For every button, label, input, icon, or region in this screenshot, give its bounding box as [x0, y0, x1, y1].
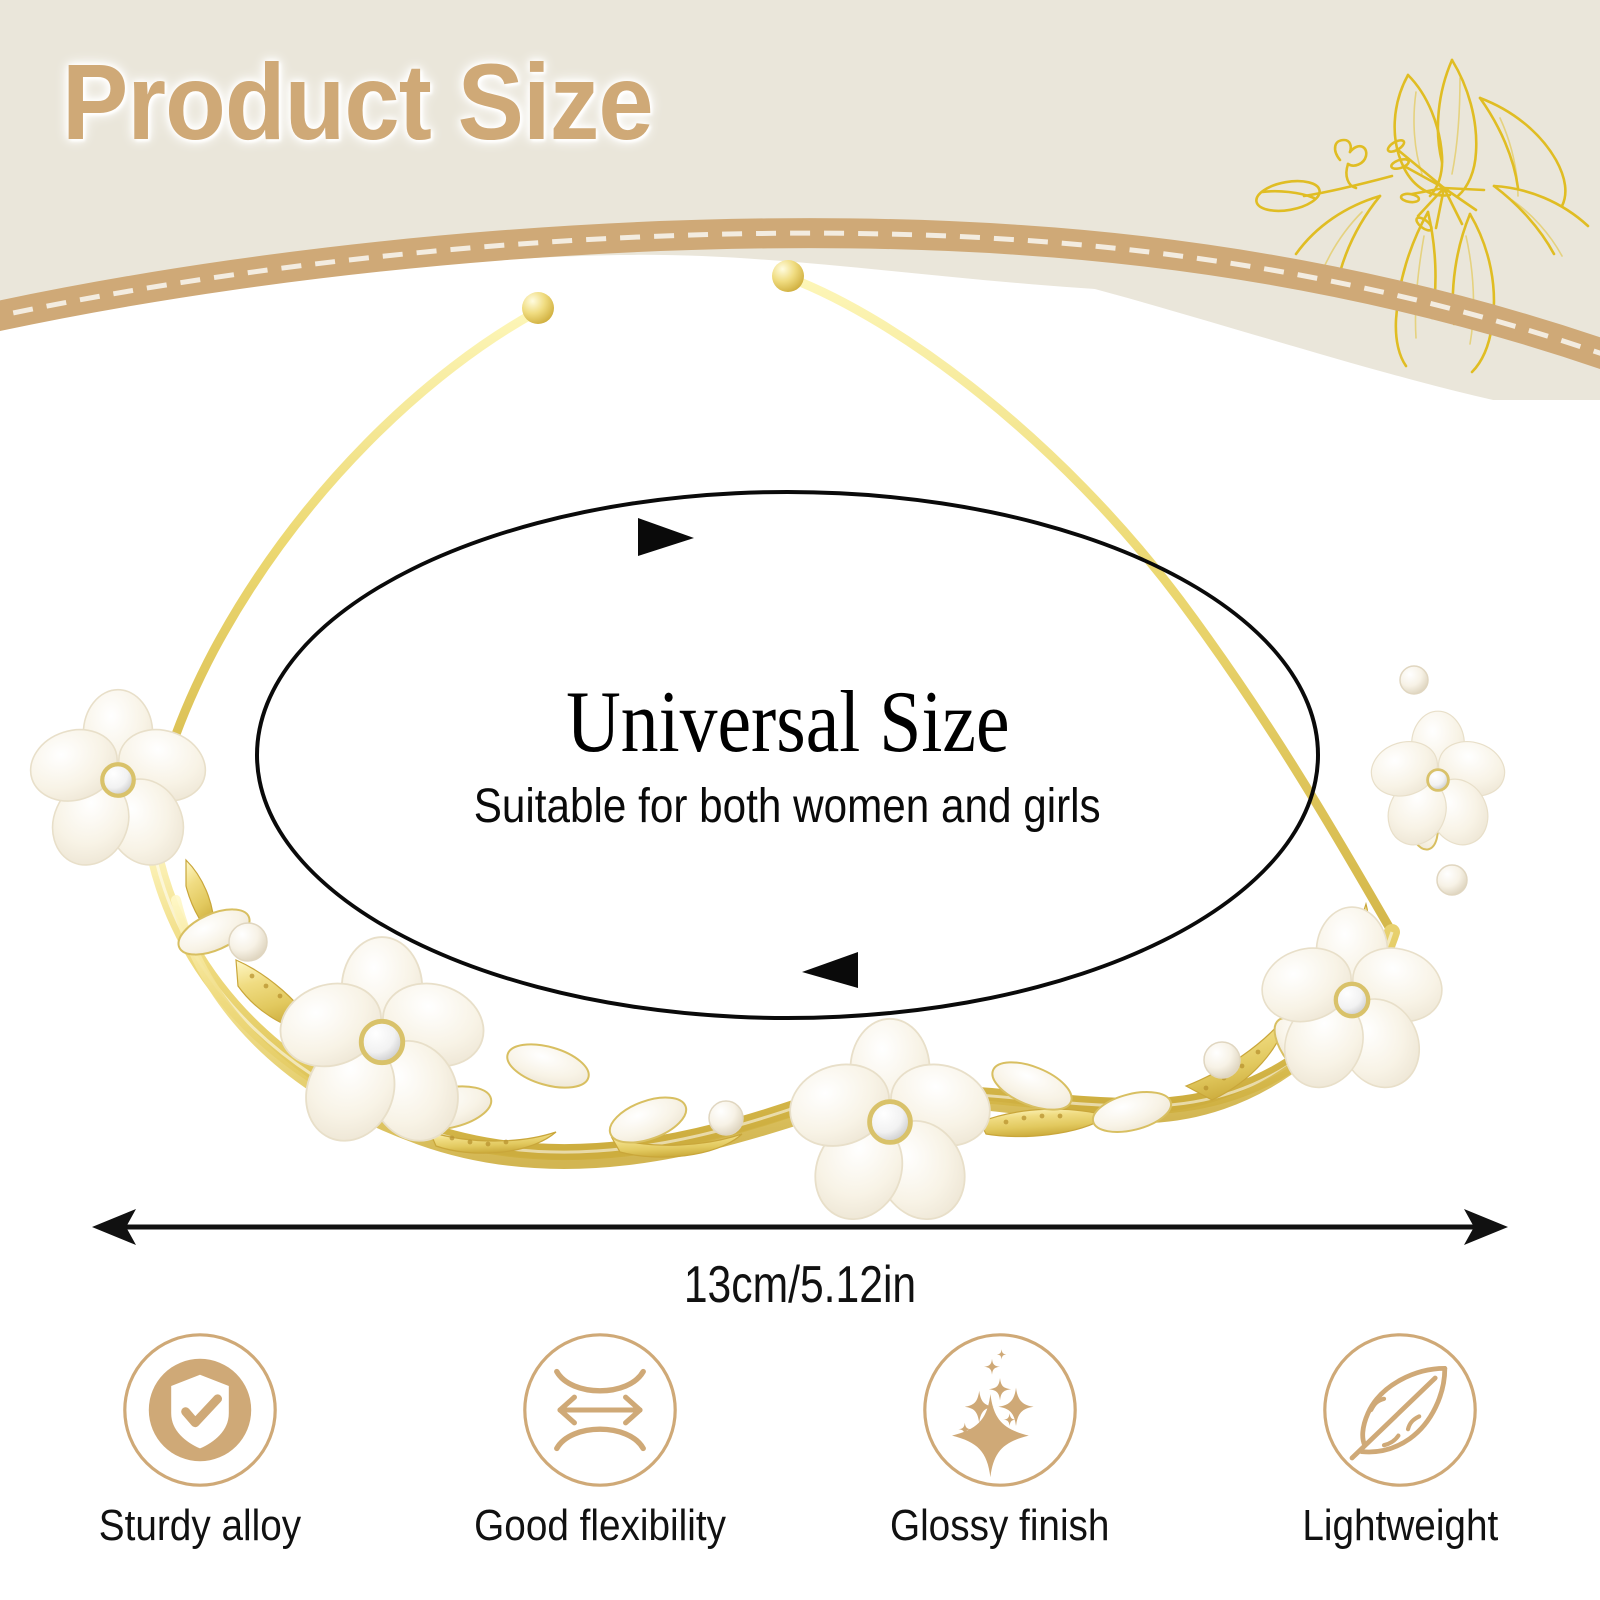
measurement-block: 13cm/5.12in [0, 1185, 1600, 1315]
feature-row: Sturdy alloy Good flexibility [0, 1330, 1600, 1600]
stretch-arrows-icon [520, 1330, 680, 1490]
feature-label: Sturdy alloy [99, 1504, 301, 1548]
shield-check-icon [120, 1330, 280, 1490]
feature-good-flexibility: Good flexibility [400, 1330, 800, 1600]
feather-icon [1320, 1330, 1480, 1490]
product-size-infographic: Product Size [0, 0, 1600, 1600]
feature-sturdy-alloy: Sturdy alloy [0, 1330, 400, 1600]
feature-label: Good flexibility [474, 1504, 726, 1548]
callout-heading: Universal Size [566, 679, 1009, 767]
product-stage: Universal Size Suitable for both women a… [0, 260, 1600, 1220]
feature-glossy-finish: Glossy finish [800, 1330, 1200, 1600]
feature-lightweight: Lightweight [1200, 1330, 1600, 1600]
feature-label: Glossy finish [890, 1504, 1109, 1548]
measurement-label: 13cm/5.12in [144, 1255, 1456, 1315]
ball-tip-right [772, 260, 804, 292]
universal-size-textblock: Universal Size Suitable for both women a… [255, 490, 1320, 1020]
page-title: Product Size [62, 48, 653, 156]
sparkle-icon [920, 1330, 1080, 1490]
callout-subheading: Suitable for both women and girls [474, 783, 1101, 831]
feature-label: Lightweight [1302, 1504, 1498, 1548]
ball-tip-left [522, 292, 554, 324]
